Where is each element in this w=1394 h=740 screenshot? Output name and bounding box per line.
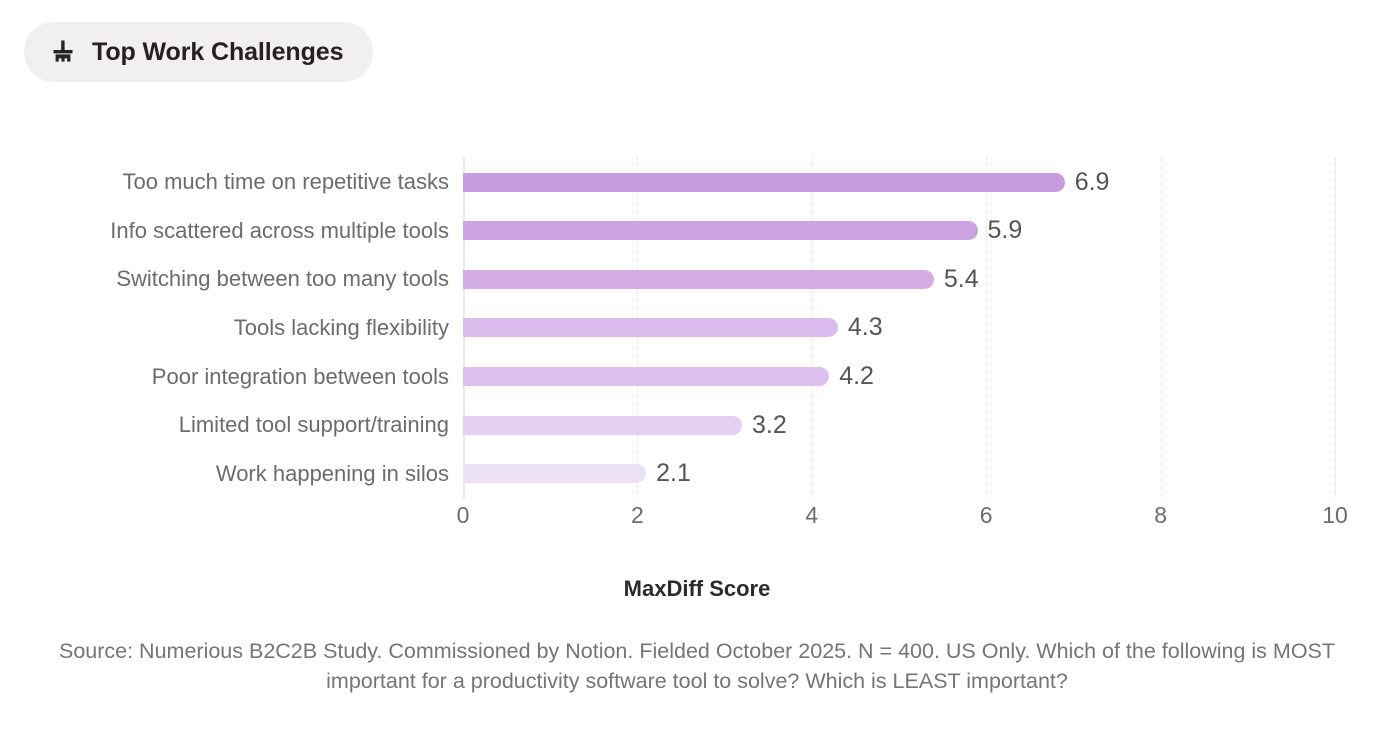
y-axis-tick-text: Limited tool support/training [179, 412, 449, 438]
x-axis-tick-label: 4 [805, 502, 818, 529]
bar-value-label: 6.9 [1075, 170, 1110, 195]
y-axis-tick-label: Work happening in silos [0, 449, 449, 498]
x-axis-tick-label: 8 [1154, 502, 1167, 529]
y-axis-tick-label: Tools lacking flexibility [0, 304, 449, 353]
broom-icon [50, 39, 76, 65]
bar-value-label: 4.3 [848, 315, 883, 340]
x-axis-ticks: 0 2 4 6 8 10 [463, 502, 1335, 536]
bar [463, 464, 646, 483]
bar-row: 4.3 [463, 304, 1335, 353]
y-axis-tick-text: Too much time on repetitive tasks [123, 169, 449, 195]
bar-value-label: 5.4 [944, 267, 979, 292]
y-axis-labels: Too much time on repetitive tasks Info s… [0, 158, 449, 498]
bar-row: 6.9 [463, 158, 1335, 207]
bar-row: 2.1 [463, 449, 1335, 498]
y-axis-tick-text: Work happening in silos [216, 461, 449, 487]
x-axis-tick-label: 10 [1322, 502, 1348, 529]
bars-group: 6.9 5.9 5.4 4.3 4.2 3.2 [463, 158, 1335, 498]
y-axis-tick-label: Poor integration between tools [0, 352, 449, 401]
x-axis-tick-label: 0 [457, 502, 470, 529]
x-axis-tick-label: 2 [631, 502, 644, 529]
bar-chart: Too much time on repetitive tasks Info s… [0, 140, 1394, 560]
source-note: Source: Numerious B2C2B Study. Commissio… [37, 636, 1357, 696]
y-axis-tick-text: Tools lacking flexibility [234, 315, 449, 341]
y-axis-tick-text: Info scattered across multiple tools [110, 218, 449, 244]
bar-row: 4.2 [463, 352, 1335, 401]
bar [463, 416, 742, 435]
y-axis-tick-label: Too much time on repetitive tasks [0, 158, 449, 207]
y-axis-tick-label: Switching between too many tools [0, 255, 449, 304]
chart-title-label: Top Work Challenges [92, 38, 343, 67]
x-axis-title: MaxDiff Score [0, 576, 1394, 602]
chart-title-badge: Top Work Challenges [24, 22, 373, 82]
bar [463, 270, 934, 289]
bar-row: 5.4 [463, 255, 1335, 304]
bar-value-label: 5.9 [988, 218, 1023, 243]
y-axis-tick-label: Limited tool support/training [0, 401, 449, 450]
gridline-10 [1335, 158, 1336, 498]
bar-value-label: 3.2 [752, 413, 787, 438]
bar [463, 173, 1065, 192]
bar-row: 3.2 [463, 401, 1335, 450]
bar [463, 221, 978, 240]
plot-area: 6.9 5.9 5.4 4.3 4.2 3.2 [463, 158, 1335, 498]
bar-value-label: 4.2 [839, 364, 874, 389]
bar [463, 318, 838, 337]
y-axis-tick-label: Info scattered across multiple tools [0, 207, 449, 256]
y-axis-tick-text: Poor integration between tools [152, 364, 449, 390]
y-axis-tick-text: Switching between too many tools [116, 266, 449, 292]
bar-value-label: 2.1 [656, 461, 691, 486]
bar [463, 367, 829, 386]
x-axis-tick-label: 6 [980, 502, 993, 529]
bar-row: 5.9 [463, 207, 1335, 256]
